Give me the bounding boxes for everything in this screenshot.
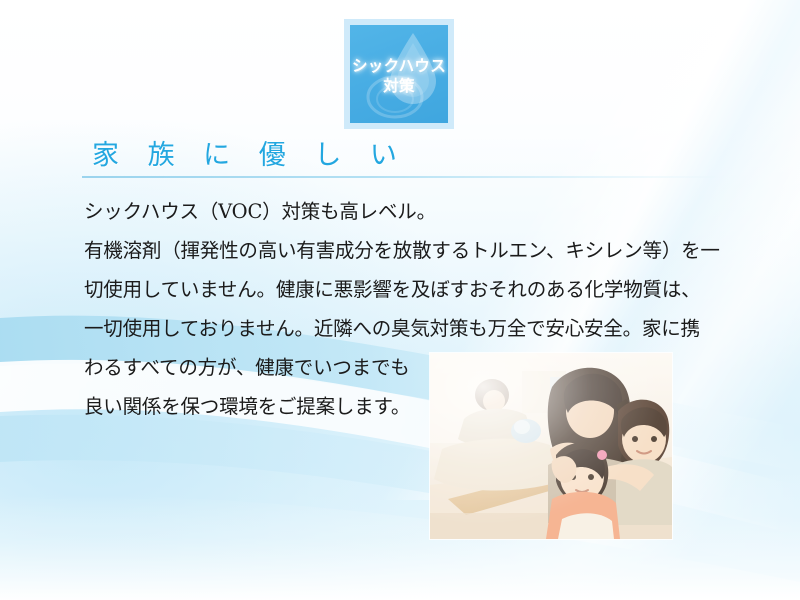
body-line-3: 切使用していません。健康に悪影響を及ぼすおそれのある化学物質は、 [84, 270, 734, 309]
body-line-2: 有機溶剤（揮発性の高い有害成分を放散するトルエン、キシレン等）を一 [84, 231, 734, 270]
page-canvas: シックハウス 対策 家 族 に 優 し い シックハウス（VOC）対策も高レベル… [0, 0, 800, 600]
badge-line-2: 対策 [350, 77, 448, 95]
body-line-4: 一切使用しておりません。近隣への臭気対策も万全で安心安全。家に携 [84, 309, 734, 348]
title-underline-rule [82, 176, 722, 178]
badge-line-1: シックハウス [350, 57, 448, 75]
sick-house-badge-inner: シックハウス 対策 [350, 25, 448, 123]
page-title: 家 族 に 優 し い [92, 133, 407, 172]
sick-house-badge-text: シックハウス 対策 [350, 57, 448, 96]
body-line-1: シックハウス（VOC）対策も高レベル。 [84, 192, 734, 231]
family-photo [430, 353, 672, 539]
sick-house-badge: シックハウス 対策 [344, 19, 454, 129]
